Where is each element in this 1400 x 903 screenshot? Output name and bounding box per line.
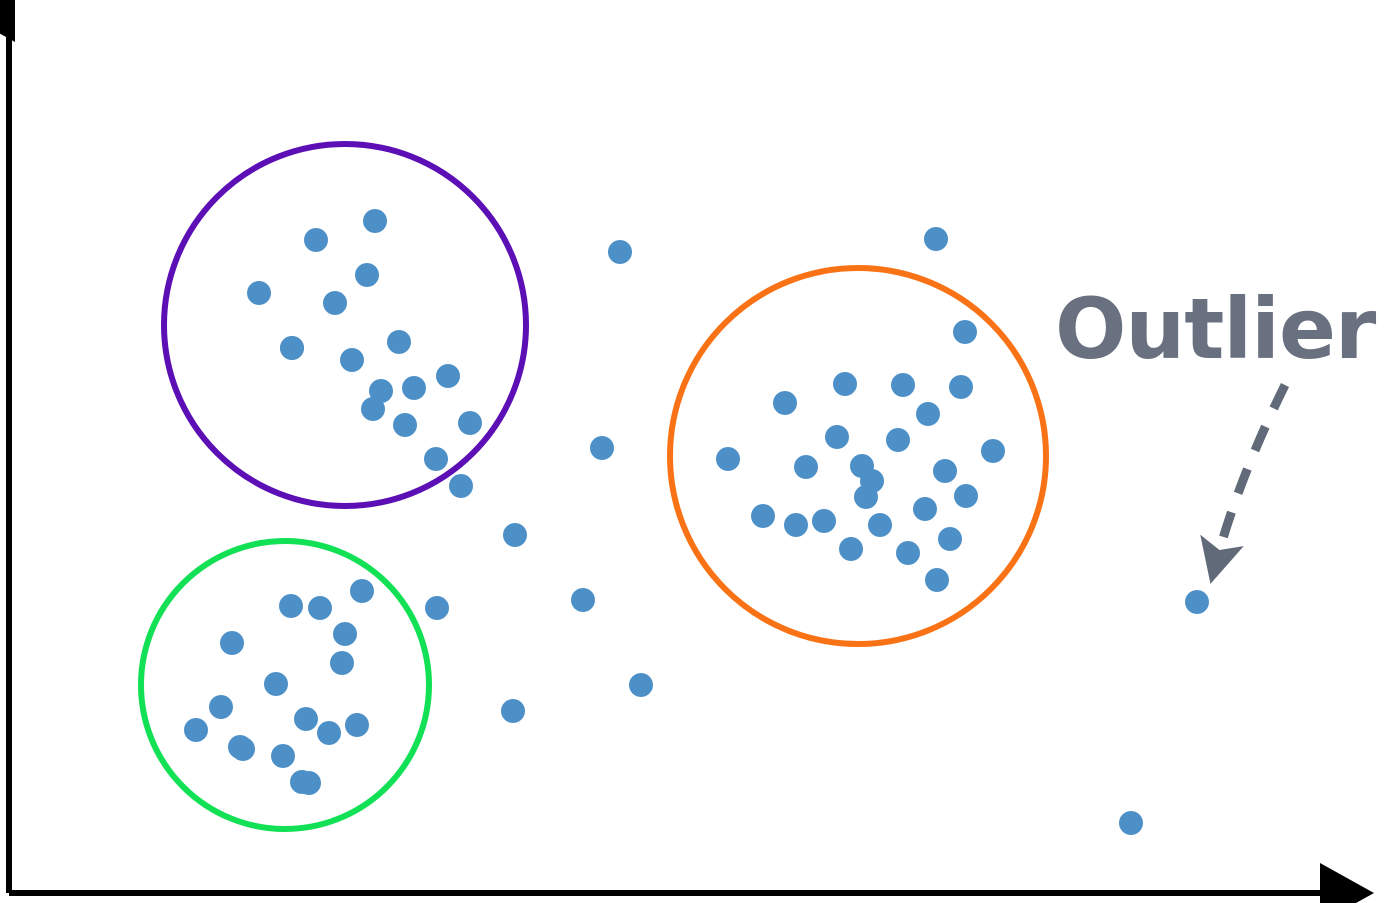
cluster-orange-point bbox=[825, 425, 849, 449]
cluster-purple-point bbox=[355, 263, 379, 287]
cluster-purple-point bbox=[449, 474, 473, 498]
cluster-orange-point bbox=[773, 391, 797, 415]
unclustered-point bbox=[503, 523, 527, 547]
cluster-purple-point bbox=[247, 281, 271, 305]
cluster-orange-point bbox=[933, 459, 957, 483]
cluster-green-point bbox=[209, 695, 233, 719]
cluster-orange-point bbox=[949, 375, 973, 399]
cluster-purple-point bbox=[393, 413, 417, 437]
cluster-orange-point bbox=[812, 509, 836, 533]
cluster-purple-boundary bbox=[164, 144, 526, 506]
cluster-orange-point bbox=[954, 484, 978, 508]
outlier-arrow bbox=[1216, 385, 1285, 563]
cluster-green-point bbox=[271, 744, 295, 768]
cluster-green-point bbox=[220, 631, 244, 655]
cluster-green-point bbox=[330, 651, 354, 675]
cluster-purple-point bbox=[304, 228, 328, 252]
cluster-green-point bbox=[184, 718, 208, 742]
cluster-green-point bbox=[264, 672, 288, 696]
outlier-annotation-label: Outlier bbox=[1055, 287, 1375, 371]
cluster-purple-point bbox=[424, 447, 448, 471]
cluster-green-point bbox=[279, 594, 303, 618]
cluster-orange-point bbox=[953, 320, 977, 344]
cluster-orange-point bbox=[839, 537, 863, 561]
cluster-orange-point bbox=[794, 455, 818, 479]
unclustered-point bbox=[590, 436, 614, 460]
cluster-orange-point bbox=[891, 373, 915, 397]
plot-area bbox=[0, 0, 1400, 903]
cluster-circles bbox=[141, 144, 1046, 829]
cluster-green-point bbox=[308, 596, 332, 620]
outlier-point-2 bbox=[1119, 811, 1143, 835]
unclustered-point bbox=[629, 673, 653, 697]
cluster-purple-point bbox=[458, 411, 482, 435]
cluster-orange-point bbox=[886, 428, 910, 452]
cluster-green-point bbox=[228, 735, 252, 759]
cluster-orange-point bbox=[981, 439, 1005, 463]
cluster-orange-point bbox=[751, 504, 775, 528]
cluster-orange-point bbox=[860, 469, 884, 493]
cluster-orange-point bbox=[716, 447, 740, 471]
cluster-orange-point bbox=[925, 568, 949, 592]
cluster-orange-point bbox=[868, 513, 892, 537]
cluster-orange-point bbox=[784, 513, 808, 537]
outlier-point-3 bbox=[924, 227, 948, 251]
outlier-point-1 bbox=[1185, 590, 1209, 614]
cluster-purple-point bbox=[361, 397, 385, 421]
cluster-purple-point bbox=[363, 209, 387, 233]
cluster-purple-point bbox=[323, 291, 347, 315]
cluster-purple-point bbox=[402, 376, 426, 400]
unclustered-point bbox=[425, 596, 449, 620]
cluster-green-point bbox=[345, 713, 369, 737]
cluster-orange-point bbox=[833, 372, 857, 396]
unclustered-point bbox=[501, 699, 525, 723]
cluster-orange-point bbox=[916, 402, 940, 426]
cluster-green-point bbox=[317, 721, 341, 745]
cluster-orange-point bbox=[913, 497, 937, 521]
cluster-purple-point bbox=[340, 348, 364, 372]
cluster-purple-point bbox=[280, 336, 304, 360]
cluster-green-point bbox=[290, 770, 314, 794]
scatter-plot-diagram: Outlier bbox=[0, 0, 1400, 903]
cluster-green-point bbox=[350, 579, 374, 603]
cluster-orange-point bbox=[938, 527, 962, 551]
cluster-green-point bbox=[294, 707, 318, 731]
cluster-orange-point bbox=[896, 541, 920, 565]
outlier-arrow-path bbox=[1216, 385, 1285, 563]
cluster-purple-point bbox=[436, 364, 460, 388]
cluster-purple-point bbox=[387, 330, 411, 354]
unclustered-point bbox=[608, 240, 632, 264]
unclustered-point bbox=[571, 588, 595, 612]
cluster-green-point bbox=[333, 622, 357, 646]
